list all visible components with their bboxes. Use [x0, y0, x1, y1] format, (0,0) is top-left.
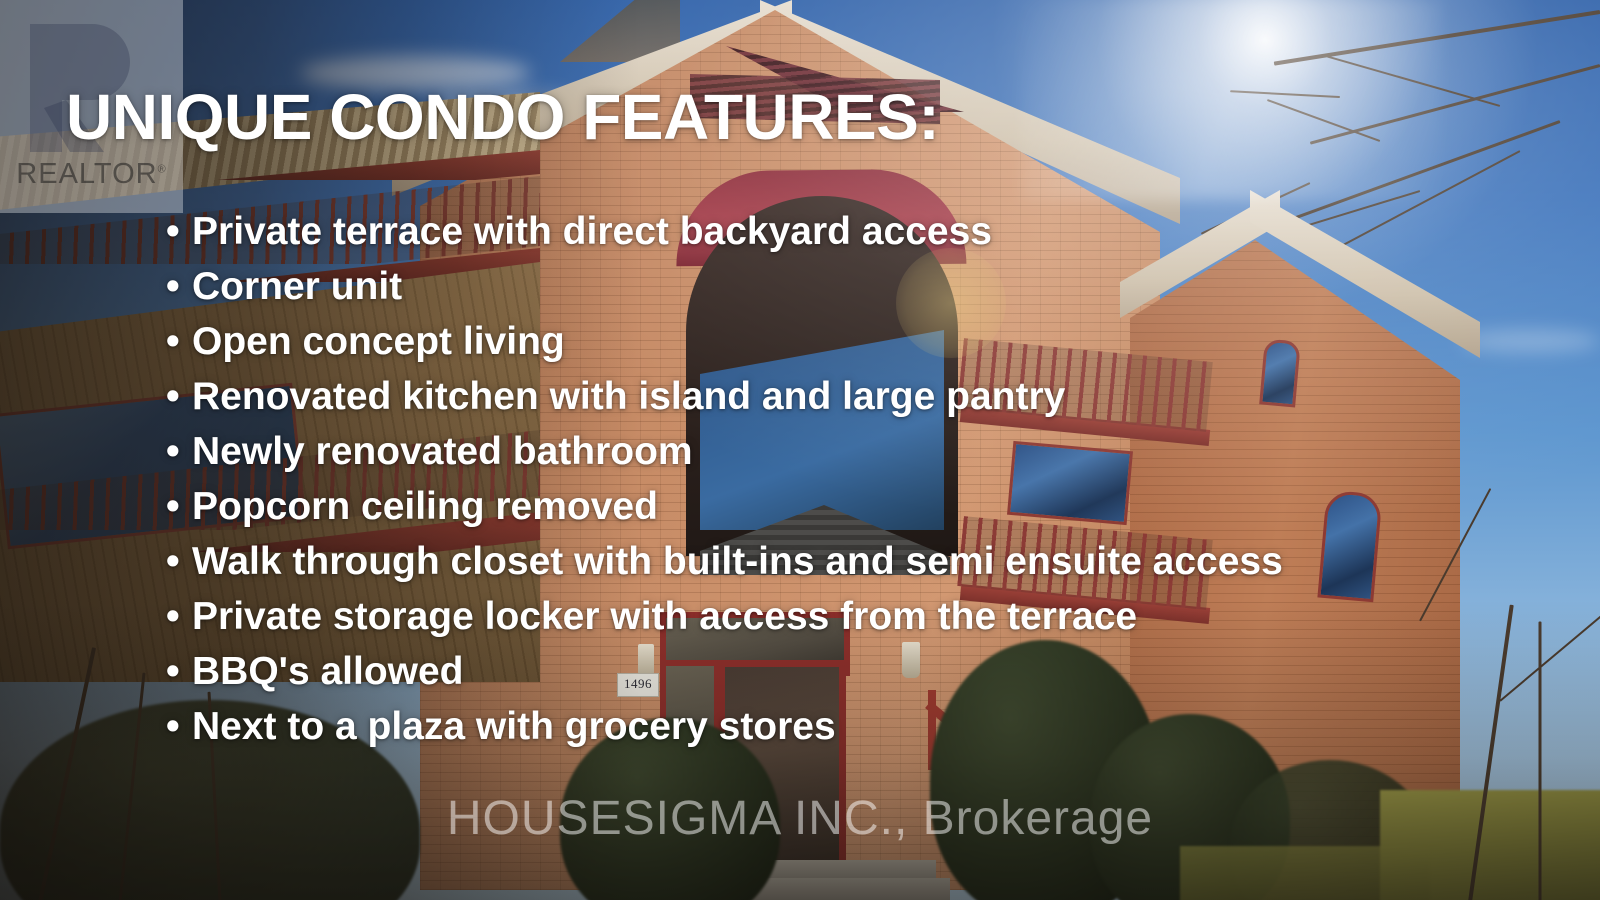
brokerage-watermark: HOUSESIGMA INC., Brokerage: [0, 791, 1600, 846]
bottom-vignette: [0, 600, 1600, 900]
realtor-wordmark: REALTOR®: [2, 158, 181, 191]
realtor-wordmark-text: REALTOR: [16, 158, 157, 190]
property-photo: 1496: [0, 0, 1600, 900]
listing-photo-slide: 1496 REALTO: [0, 0, 1600, 900]
realtor-r-icon: [26, 22, 146, 154]
registered-mark: ®: [158, 163, 167, 175]
realtor-logo-watermark: REALTOR®: [0, 0, 183, 213]
